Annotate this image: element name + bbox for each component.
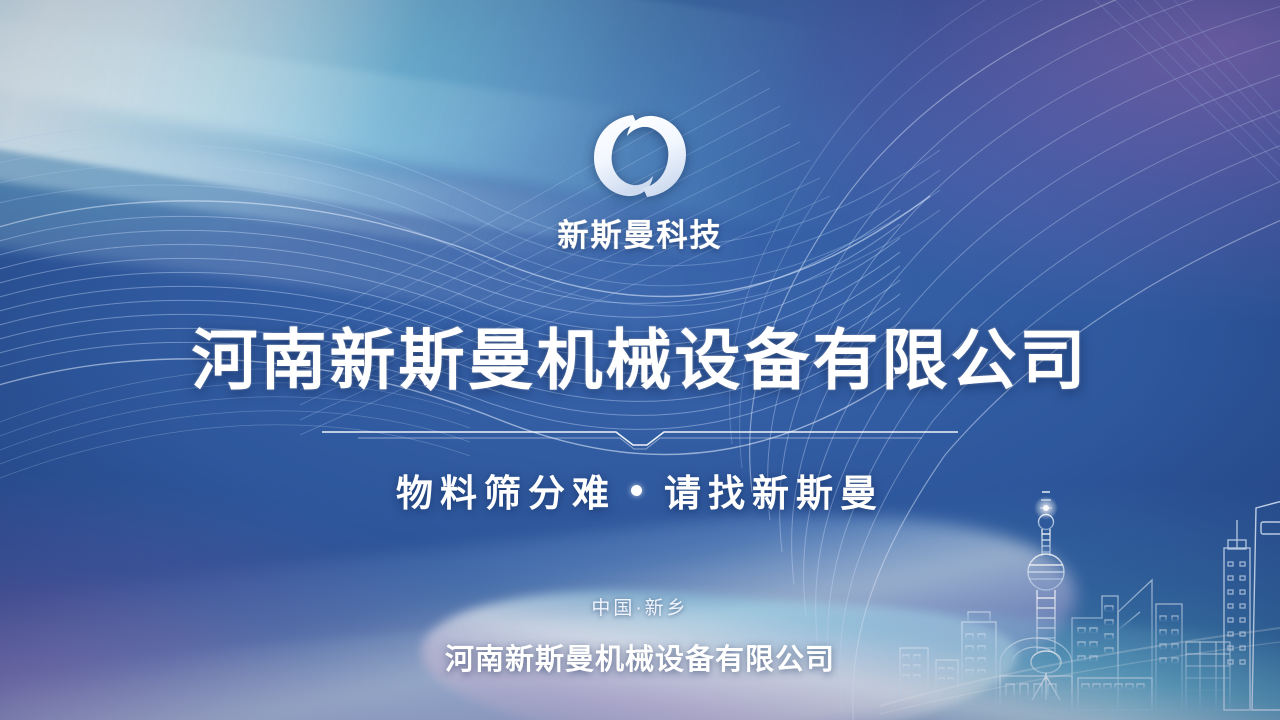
location-label: 中国·新乡 — [591, 593, 688, 620]
subtitle-right: 请找新斯曼 — [664, 463, 884, 517]
bottom-caption: 河南新斯曼机械设备有限公司 — [0, 636, 1280, 678]
subtitle: 物料筛分难 请找新斯曼 — [396, 463, 884, 517]
slide-content: 新斯曼科技 河南新斯曼机械设备有限公司 物料筛分难 请找新斯曼 中国·新乡 — [0, 0, 1280, 720]
brand-wordmark: 新斯曼科技 — [558, 210, 723, 255]
v-notch-divider-icon — [320, 425, 960, 451]
bullet-dot-icon — [631, 485, 642, 496]
page-title: 河南新斯曼机械设备有限公司 — [192, 307, 1089, 403]
brand-logo-block: 新斯曼科技 — [558, 108, 723, 255]
subtitle-left: 物料筛分难 — [396, 463, 616, 517]
swirl-s-logo-icon — [585, 108, 695, 204]
title-slide: 新斯曼科技 河南新斯曼机械设备有限公司 物料筛分难 请找新斯曼 中国·新乡 河南… — [0, 0, 1280, 720]
